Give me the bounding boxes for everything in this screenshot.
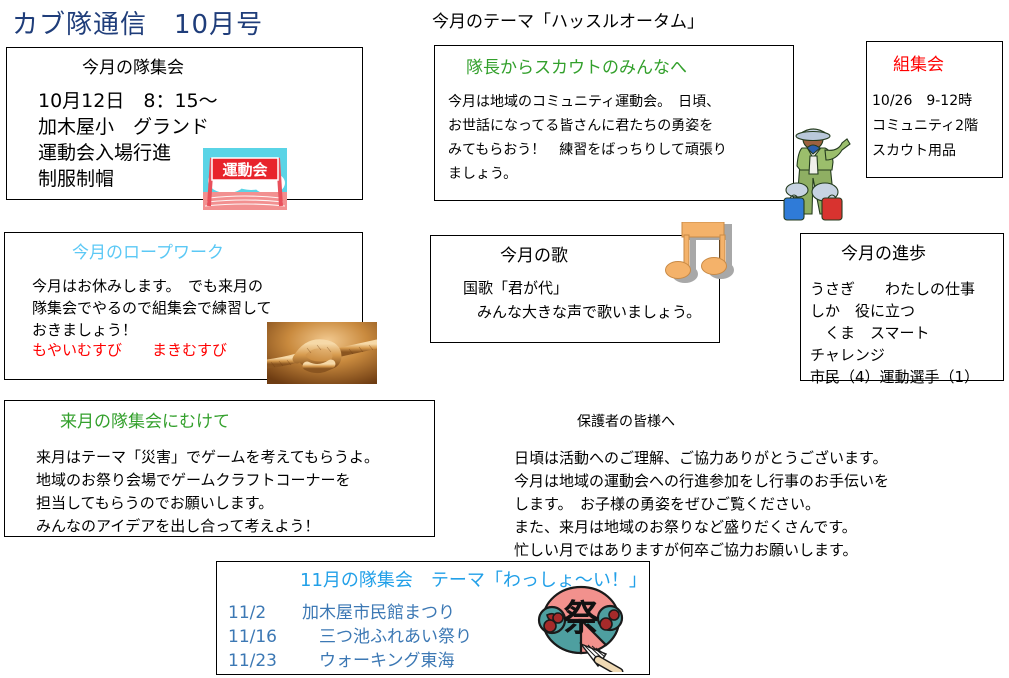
ropework-knot-names: もやいむすび まきむすび — [32, 339, 227, 360]
next-month-line: 来月はテーマ「災害」でゲームを考えてもらうよ。 — [36, 446, 379, 469]
leader-line: みてもらおう！ 練習をばっちりして頑張り — [448, 138, 727, 162]
leader-line: ましょう。 — [448, 162, 727, 186]
svg-text:運動会: 運動会 — [222, 161, 267, 179]
this-month-meeting-heading: 今月の隊集会 — [82, 53, 184, 78]
meeting-line: 10月12日 8：15〜 — [38, 88, 218, 114]
meeting-line: 加木屋小 グランド — [38, 114, 218, 140]
song-heading: 今月の歌 — [500, 241, 568, 266]
progress-item: しか 役に立つ — [810, 300, 979, 322]
svg-text:祭: 祭 — [563, 598, 600, 639]
leader-message-body: 今月は地域のコミュニティ運動会。 日頃、 お世話になってる皆さんに君たちの勇姿を… — [448, 90, 727, 186]
den-line: 10/26 9-12時 — [872, 89, 978, 114]
event-date: 11/2 — [228, 601, 302, 625]
ropework-body: 今月はお休みします。 でも来月の 隊集会でやるので組集会で練習して おきましょう… — [32, 275, 272, 341]
song-note-line: みんな大きな声で歌いましょう。 — [477, 301, 701, 322]
den-line: コミュニティ2階 — [872, 114, 978, 139]
next-month-line: 担当してもらうのでお願いします。 — [36, 492, 379, 515]
meeting-line: 運動会入場行進 — [38, 140, 218, 166]
parents-line: 日頃は活動へのご理解、ご協力ありがとうございます。 — [514, 447, 889, 470]
november-event-list: 11/2加木屋市民館まつり 11/16 三つ池ふれあい祭り 11/23 ウォーキ… — [228, 601, 472, 673]
november-event-row: 11/16 三つ池ふれあい祭り — [228, 625, 472, 649]
next-month-line: 地域のお祭り会場でゲームクラフトコーナーを — [36, 469, 379, 492]
this-month-meeting-details: 10月12日 8：15〜 加木屋小 グランド 運動会入場行進 制服制帽 — [38, 88, 218, 192]
den-line: スカウト用品 — [872, 139, 978, 164]
ropework-line: おきましょう！ — [32, 319, 272, 341]
parents-line: また、来月は地域のお祭りなど盛りだくさんです。 — [514, 516, 889, 539]
ropework-heading: 今月のロープワーク — [72, 238, 224, 263]
progress-heading: 今月の進歩 — [841, 239, 926, 264]
parents-line: 忙しい月ではありますが何卒ご協力お願いします。 — [514, 539, 889, 562]
page-title: カブ隊通信 10月号 — [12, 4, 263, 41]
leader-line: お世話になってる皆さんに君たちの勇姿を — [448, 114, 727, 138]
leader-message-heading: 隊長からスカウトのみんなへ — [466, 53, 687, 78]
progress-list: うさぎ わたしの仕事 しか 役に立つ くま スマート チャレンジ 市民（4）運動… — [810, 278, 979, 388]
festival-fan-icon: 祭 — [534, 582, 630, 672]
event-name: ウォーキング東海 — [302, 651, 455, 671]
parents-line: します。 お子様の勇姿をぜひご覧ください。 — [514, 493, 889, 516]
meeting-line: 制服制帽 — [38, 166, 218, 192]
progress-item: 市民（4）運動選手（1） — [810, 366, 979, 388]
november-event-row: 11/2加木屋市民館まつり — [228, 601, 472, 625]
progress-item: うさぎ わたしの仕事 — [810, 278, 979, 300]
parents-message-body: 日頃は活動へのご理解、ご協力ありがとうございます。 今月は地域の運動会への行進参… — [514, 447, 889, 562]
den-meeting-heading: 組集会 — [893, 50, 944, 75]
rope-knot-photo — [267, 322, 377, 384]
event-name: 三つ池ふれあい祭り — [302, 627, 472, 647]
progress-item: くま スマート — [810, 322, 979, 344]
event-date: 11/16 — [228, 625, 302, 649]
event-date: 11/23 — [228, 649, 302, 673]
undokai-banner-icon: 運動会 — [203, 148, 287, 210]
music-notes-icon — [660, 222, 752, 290]
ropework-line: 今月はお休みします。 でも来月の — [32, 275, 272, 297]
next-month-body: 来月はテーマ「災害」でゲームを考えてもらうよ。 地域のお祭り会場でゲームクラフト… — [36, 446, 379, 538]
leader-line: 今月は地域のコミュニティ運動会。 日頃、 — [448, 90, 727, 114]
next-month-heading: 来月の隊集会にむけて — [60, 407, 230, 432]
scout-leader-icon — [780, 118, 852, 223]
event-name: 加木屋市民館まつり — [302, 603, 455, 623]
november-event-row: 11/23 ウォーキング東海 — [228, 649, 472, 673]
song-title-line: 国歌「君が代」 — [463, 277, 568, 298]
parents-line: 今月は地域の運動会への行進参加をし行事のお手伝いを — [514, 470, 889, 493]
parents-message-heading: 保護者の皆様へ — [577, 411, 675, 431]
den-meeting-details: 10/26 9-12時 コミュニティ2階 スカウト用品 — [872, 89, 978, 164]
progress-item: チャレンジ — [810, 344, 979, 366]
ropework-line: 隊集会でやるので組集会で練習して — [32, 297, 272, 319]
next-month-line: みんなのアイデアを出し合って考えよう！ — [36, 515, 379, 538]
monthly-theme-line: 今月のテーマ「ハッスルオータム」 — [432, 7, 704, 32]
